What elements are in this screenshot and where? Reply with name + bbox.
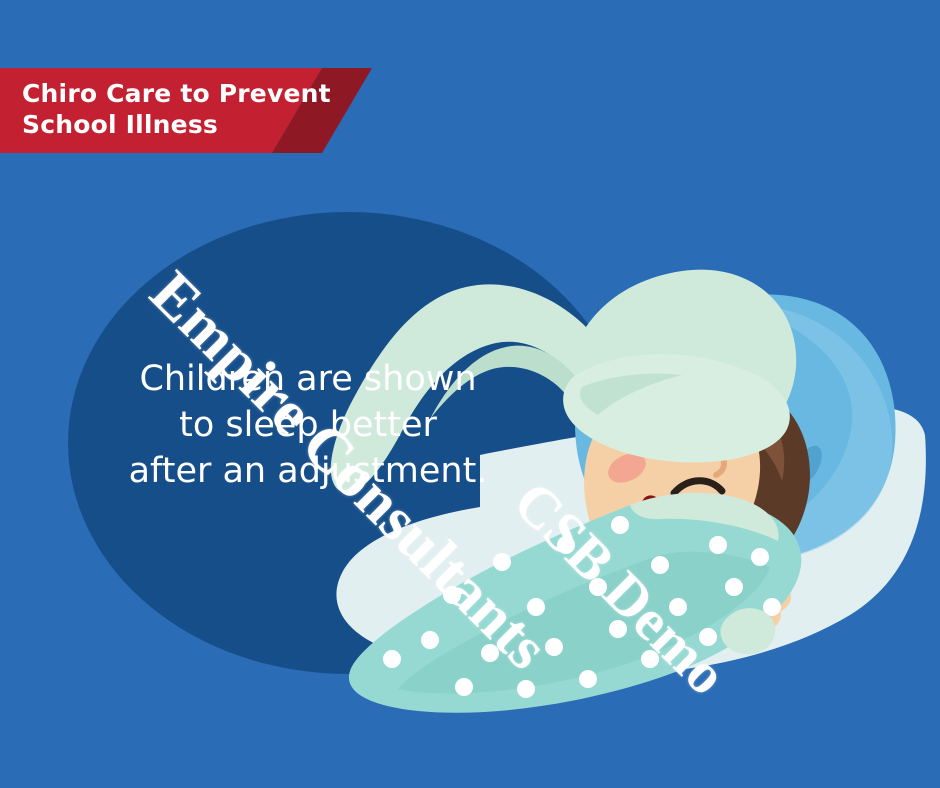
title-banner: Chiro Care to Prevent School Illness (0, 68, 372, 153)
headline-text: Children are shown to sleep better after… (108, 356, 508, 494)
banner-title-text: Chiro Care to Prevent School Illness (22, 78, 331, 140)
poster-canvas: Chiro Care to Prevent School Illness (0, 0, 940, 788)
